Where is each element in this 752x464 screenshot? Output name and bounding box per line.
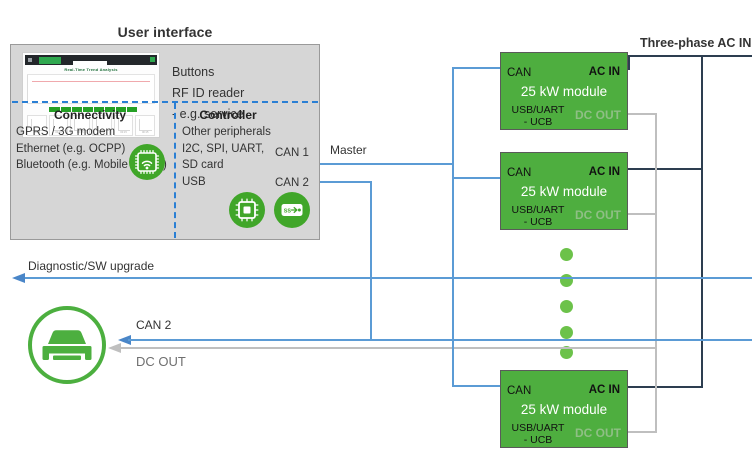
can-branch-bottom bbox=[452, 385, 500, 387]
dc-branch-middle bbox=[628, 213, 657, 215]
feature-buttons: Buttons bbox=[172, 62, 312, 83]
ac-branch-top-drop bbox=[628, 55, 630, 69]
tablet-status-dot-icon bbox=[150, 57, 155, 62]
module-bottom[interactable]: CAN AC IN 25 kW module USB/UART- UCB DC … bbox=[500, 370, 628, 448]
module-usb-uart-label: USB/UART- UCB bbox=[506, 204, 570, 228]
module-name: 25 kW module bbox=[501, 402, 627, 417]
tablet-main-chart bbox=[27, 74, 155, 104]
module-usb-uart-label: USB/UART- UCB bbox=[506, 104, 570, 128]
electric-car-icon bbox=[28, 306, 106, 384]
can2-vertical bbox=[370, 181, 372, 341]
tablet-chart-axis bbox=[27, 75, 28, 103]
wifi-chip-icon bbox=[129, 144, 165, 180]
three-phase-ac-in-label: Three-phase AC IN bbox=[640, 36, 751, 50]
module-ac-in-label: AC IN bbox=[589, 66, 620, 78]
ac-feed-top bbox=[628, 55, 752, 57]
can-branch-top bbox=[452, 67, 500, 69]
diagnostic-line bbox=[22, 277, 752, 279]
mcu-chip-icon bbox=[229, 192, 265, 228]
controller-line: SD card bbox=[182, 157, 274, 174]
can2-from-controller bbox=[320, 181, 372, 183]
panel-horizontal-divider bbox=[12, 101, 318, 103]
ac-branch-bottom bbox=[628, 386, 703, 388]
dc-branch-top bbox=[628, 113, 657, 115]
tablet-screen-title: Real-Time Trend Analysis bbox=[23, 66, 159, 73]
controller-line: I2C, SPI, UART, bbox=[182, 141, 274, 158]
module-top[interactable]: CAN AC IN 25 kW module USB/UART- UCB DC … bbox=[500, 52, 628, 130]
can-bus-vertical bbox=[452, 67, 454, 385]
user-interface-title: User interface bbox=[10, 24, 320, 40]
panel-vertical-divider bbox=[174, 103, 176, 238]
ac-bus-vertical bbox=[701, 55, 703, 386]
usb-icon: SS bbox=[274, 192, 310, 228]
dc-branch-bottom bbox=[628, 431, 657, 433]
diagram-canvas: User interface Real-Time Trend Analysis … bbox=[0, 0, 752, 464]
ac-branch-middle bbox=[628, 168, 703, 170]
module-can-port-label: CAN bbox=[507, 67, 531, 79]
module-usb-uart-label: USB/UART- UCB bbox=[506, 422, 570, 446]
module-middle[interactable]: CAN AC IN 25 kW module USB/UART- UCB DC … bbox=[500, 152, 628, 230]
dc-bus-vertical bbox=[655, 113, 657, 349]
ellipsis-dot bbox=[560, 300, 573, 313]
module-dc-out-label: DC OUT bbox=[575, 108, 621, 122]
svg-text:SS: SS bbox=[284, 208, 292, 214]
tablet-header-highlight bbox=[39, 57, 61, 64]
controller-line: USB bbox=[182, 174, 274, 191]
diagnostic-arrowhead bbox=[12, 271, 28, 285]
ellipsis-dot bbox=[560, 248, 573, 261]
controller-heading: Controller bbox=[182, 108, 274, 122]
ellipsis-dot bbox=[560, 326, 573, 339]
module-ac-in-label: AC IN bbox=[589, 384, 620, 396]
module-can-port-label: CAN bbox=[507, 385, 531, 397]
can1-port-label: CAN 1 bbox=[275, 147, 309, 159]
dc-out-to-car-line bbox=[118, 347, 657, 349]
can2-to-car-horizontal bbox=[370, 339, 752, 341]
connectivity-line: GPRS / 3G modem bbox=[16, 124, 172, 141]
can2-port-label: CAN 2 bbox=[275, 177, 309, 189]
module-dc-out-label: DC OUT bbox=[575, 208, 621, 222]
dc-out-to-car-label: DC OUT bbox=[136, 354, 186, 369]
module-name: 25 kW module bbox=[501, 84, 627, 99]
can2-to-car-label: CAN 2 bbox=[136, 318, 171, 332]
controller-block: Controller Other peripherals I2C, SPI, U… bbox=[182, 108, 274, 190]
connectivity-heading: Connectivity bbox=[8, 108, 172, 122]
controller-line: Other peripherals bbox=[182, 124, 274, 141]
ellipsis-dot bbox=[560, 274, 573, 287]
dc-bus-lower bbox=[655, 347, 657, 433]
tablet-menu-dot-icon bbox=[28, 58, 32, 62]
can1-master-line bbox=[320, 163, 454, 165]
module-can-port-label: CAN bbox=[507, 167, 531, 179]
diagnostic-label: Diagnostic/SW upgrade bbox=[28, 259, 154, 273]
master-label: Master bbox=[330, 143, 367, 157]
module-dc-out-label: DC OUT bbox=[575, 426, 621, 440]
module-name: 25 kW module bbox=[501, 184, 627, 199]
module-ac-in-label: AC IN bbox=[589, 166, 620, 178]
can-branch-middle bbox=[452, 177, 500, 179]
